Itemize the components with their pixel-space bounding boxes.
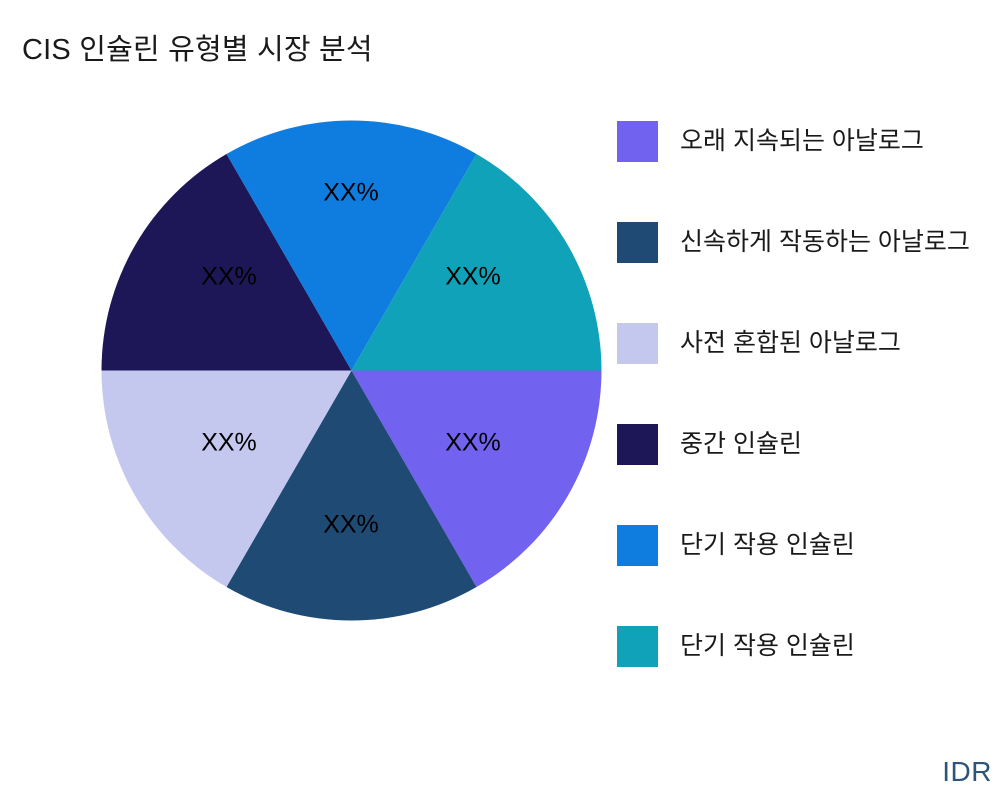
legend-item[interactable]: 신속하게 작동하는 아날로그 bbox=[617, 222, 970, 263]
legend-color-swatch bbox=[617, 121, 658, 162]
pie-slice-value-label: XX% bbox=[201, 429, 257, 457]
chart-legend: 오래 지속되는 아날로그신속하게 작동하는 아날로그사전 혼합된 아날로그중간 … bbox=[617, 121, 1000, 681]
legend-color-swatch bbox=[617, 525, 658, 566]
legend-item[interactable]: 오래 지속되는 아날로그 bbox=[617, 121, 924, 162]
page-title: CIS 인슐린 유형별 시장 분석 bbox=[22, 26, 373, 68]
legend-color-swatch bbox=[617, 626, 658, 667]
pie-slice-value-label: XX% bbox=[445, 263, 501, 291]
pie-slice-value-label: XX% bbox=[201, 263, 257, 291]
pie-chart-svg: XX%XX%XX%XX%XX%XX% bbox=[101, 120, 602, 621]
currency-label: IDR bbox=[0, 756, 1000, 788]
pie-chart-figure: CIS 인슐린 유형별 시장 분석 XX%XX%XX%XX%XX%XX% 오래 … bbox=[0, 0, 1000, 800]
pie-slice-value-label: XX% bbox=[323, 511, 379, 539]
legend-item[interactable]: 사전 혼합된 아날로그 bbox=[617, 323, 901, 364]
legend-color-swatch bbox=[617, 323, 658, 364]
legend-item-label: 신속하게 작동하는 아날로그 bbox=[680, 222, 970, 263]
legend-color-swatch bbox=[617, 222, 658, 263]
legend-item[interactable]: 단기 작용 인슐린 bbox=[617, 525, 855, 566]
legend-item[interactable]: 중간 인슐린 bbox=[617, 424, 802, 465]
pie-chart-plot-area: XX%XX%XX%XX%XX%XX% bbox=[101, 120, 602, 621]
pie-slice-value-label: XX% bbox=[445, 429, 501, 457]
legend-item-label: 사전 혼합된 아날로그 bbox=[680, 323, 901, 364]
legend-item-label: 중간 인슐린 bbox=[680, 424, 802, 465]
legend-item-label: 오래 지속되는 아날로그 bbox=[680, 121, 924, 162]
legend-item-label: 단기 작용 인슐린 bbox=[680, 525, 855, 566]
legend-color-swatch bbox=[617, 424, 658, 465]
pie-slice-value-label: XX% bbox=[323, 179, 379, 207]
legend-item[interactable]: 단기 작용 인슐린 bbox=[617, 626, 855, 667]
legend-item-label: 단기 작용 인슐린 bbox=[680, 626, 855, 667]
